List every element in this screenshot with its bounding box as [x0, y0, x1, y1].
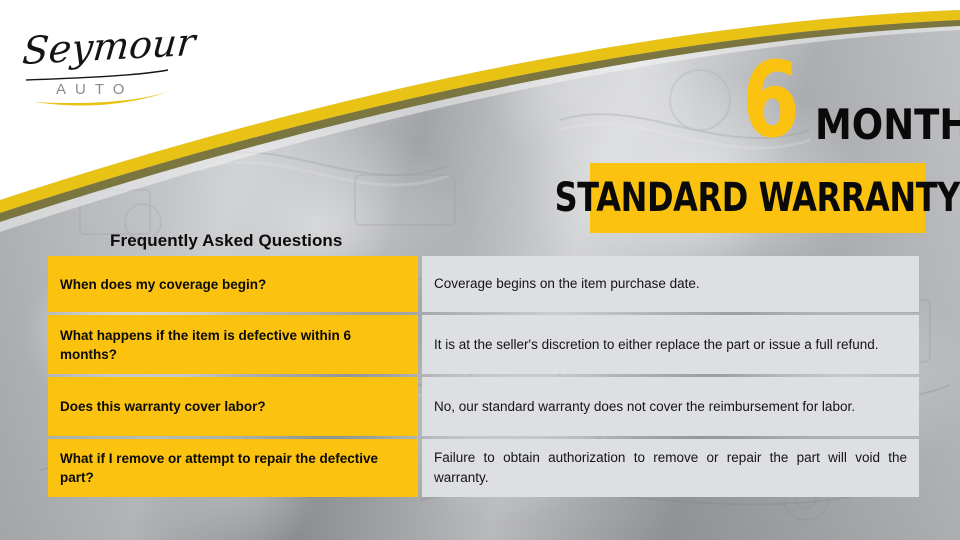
table-row: What if I remove or attempt to repair th… — [48, 439, 919, 497]
warranty-slide: Seymour AUTO Seymour AUTO 6 MONTH STANDA… — [0, 0, 960, 540]
table-row: When does my coverage begin? Coverage be… — [48, 256, 919, 312]
table-row: Does this warranty cover labor? No, our … — [48, 377, 919, 436]
warranty-banner: STANDARD WARRANTY — [590, 163, 925, 233]
faq-answer-text: Failure to obtain authorization to remov… — [434, 448, 907, 488]
faq-question-text: What if I remove or attempt to repair th… — [60, 449, 406, 487]
faq-table: When does my coverage begin? Coverage be… — [48, 256, 919, 497]
faq-answer-cell: It is at the seller's discretion to eith… — [422, 315, 919, 374]
table-row: What happens if the item is defective wi… — [48, 315, 919, 374]
faq-answer-text: No, our standard warranty does not cover… — [434, 397, 907, 417]
faq-question-text: When does my coverage begin? — [60, 275, 266, 294]
duration-unit: MONTH — [815, 104, 960, 146]
faq-question-cell: What happens if the item is defective wi… — [48, 315, 418, 374]
faq-heading: Frequently Asked Questions — [110, 231, 342, 251]
brand-logo[interactable]: Seymour AUTO Seymour AUTO — [18, 18, 198, 110]
faq-answer-cell: Coverage begins on the item purchase dat… — [422, 256, 919, 312]
seymour-auto-logo-icon: Seymour AUTO — [18, 18, 198, 110]
faq-question-text: What happens if the item is defective wi… — [60, 326, 406, 364]
faq-answer-cell: Failure to obtain authorization to remov… — [422, 439, 919, 497]
faq-answer-text: Coverage begins on the item purchase dat… — [434, 274, 907, 294]
faq-question-cell: What if I remove or attempt to repair th… — [48, 439, 418, 497]
faq-question-text: Does this warranty cover labor? — [60, 397, 266, 416]
svg-text:AUTO: AUTO — [56, 81, 133, 98]
faq-question-cell: Does this warranty cover labor? — [48, 377, 418, 436]
warranty-banner-label: STANDARD WARRANTY — [555, 178, 960, 218]
faq-answer-text: It is at the seller's discretion to eith… — [434, 335, 907, 355]
faq-question-cell: When does my coverage begin? — [48, 256, 418, 312]
svg-text:Seymour: Seymour — [21, 21, 198, 74]
faq-answer-cell: No, our standard warranty does not cover… — [422, 377, 919, 436]
duration-number: 6 — [742, 48, 798, 152]
